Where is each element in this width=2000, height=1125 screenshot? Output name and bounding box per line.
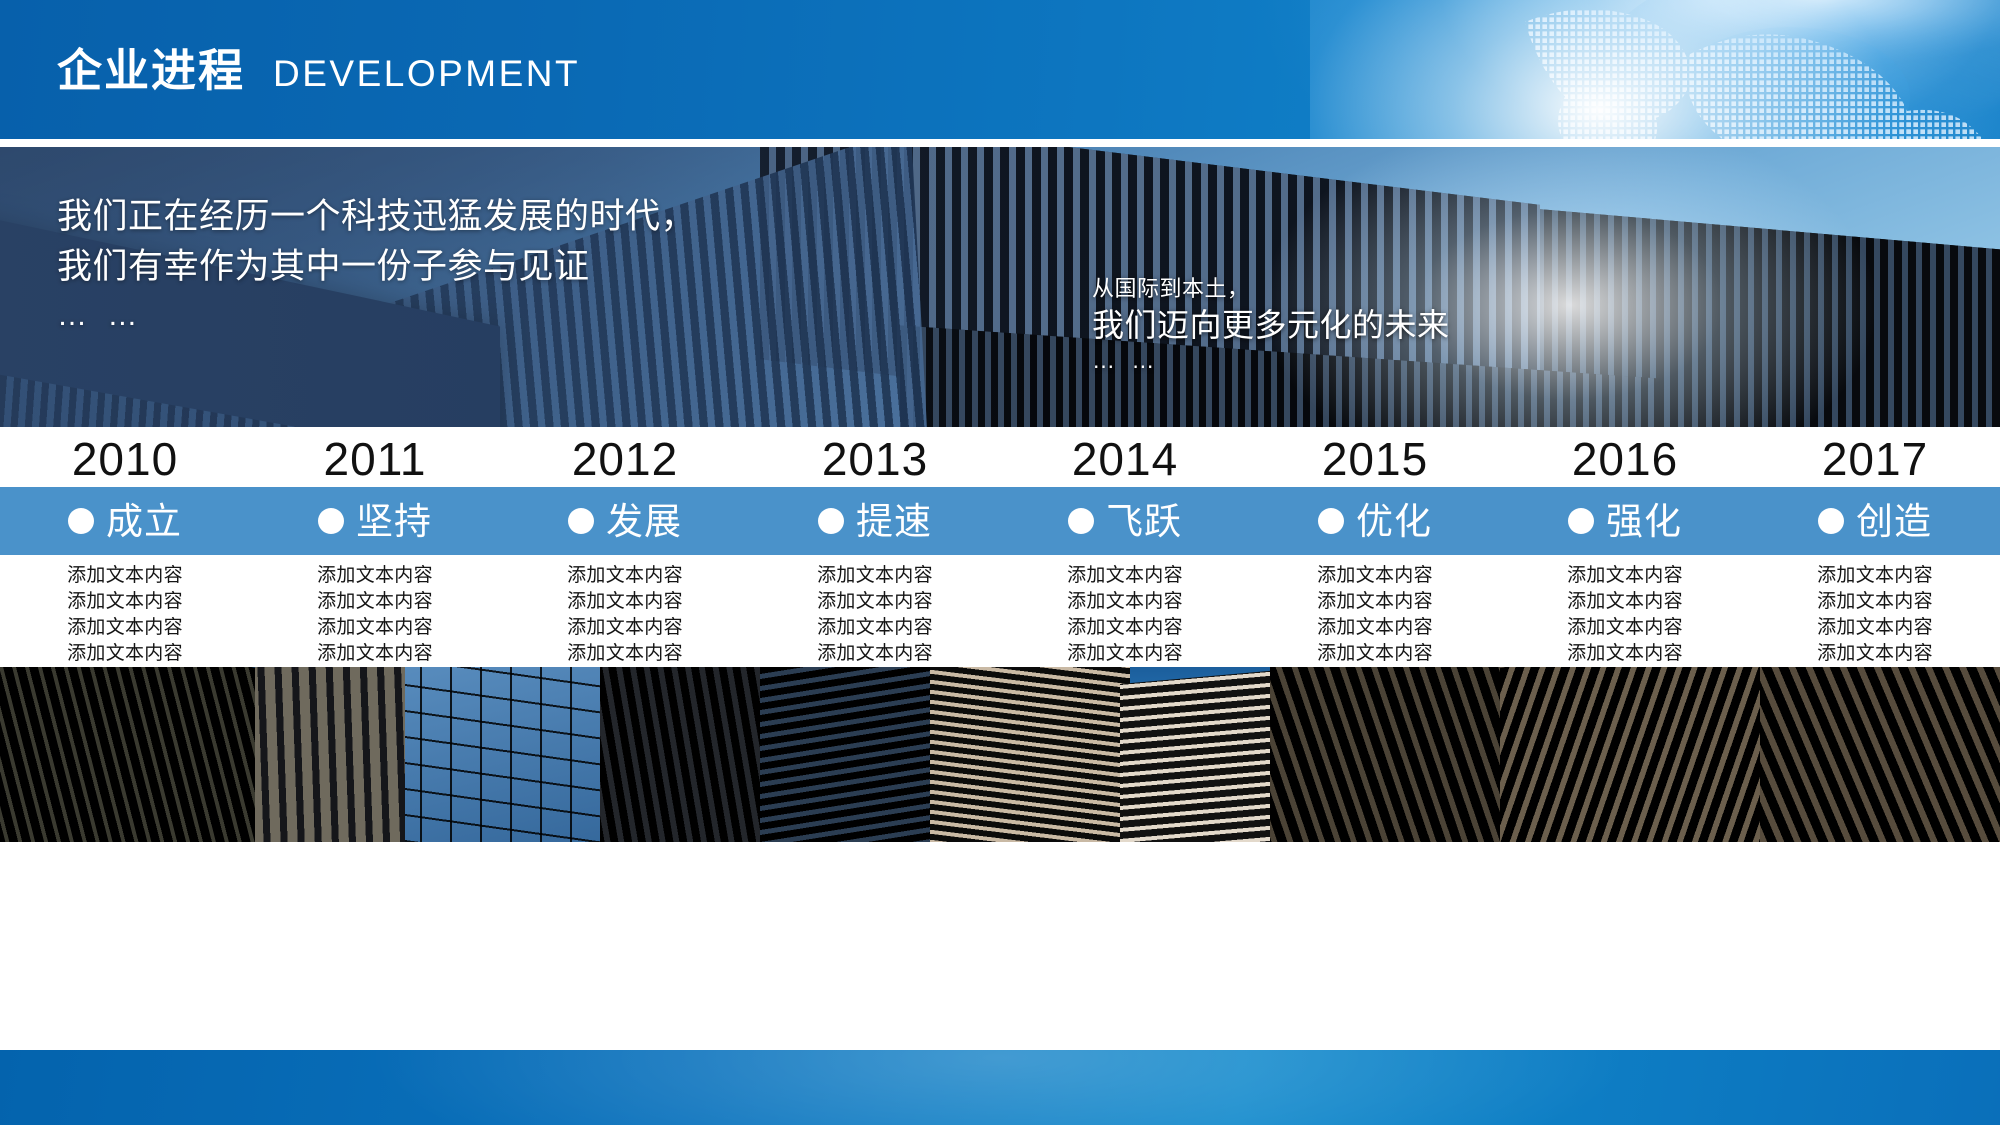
filled-circle-icon: [1568, 508, 1594, 534]
header-separator: [0, 139, 2000, 147]
filled-circle-icon: [1068, 508, 1094, 534]
timeline-body-line: 添加文本内容: [1067, 589, 1183, 615]
timeline-milestone-label: 优化: [1356, 503, 1432, 540]
timeline-body-line: 添加文本内容: [317, 641, 433, 667]
bottom-photo-strip: [0, 667, 2000, 842]
timeline-body-line: 添加文本内容: [567, 615, 683, 641]
timeline-milestone-label: 创造: [1856, 503, 1932, 540]
timeline-body-line: 添加文本内容: [1317, 563, 1433, 589]
hero-left-line-1: 我们正在经历一个科技迅猛发展的时代，: [57, 192, 696, 242]
timeline-body-line: 添加文本内容: [1317, 615, 1433, 641]
strip-building-9: [1500, 667, 1800, 842]
timeline-body-cell: 添加文本内容添加文本内容添加文本内容添加文本内容: [1750, 555, 2000, 665]
filled-circle-icon: [1818, 508, 1844, 534]
timeline-milestone[interactable]: 坚持: [250, 503, 500, 540]
timeline-body-cell: 添加文本内容添加文本内容添加文本内容添加文本内容: [1250, 555, 1500, 665]
hero-left-line-3: … …: [57, 295, 696, 338]
timeline-body-line: 添加文本内容: [1817, 641, 1933, 667]
strip-building-4: [600, 667, 780, 842]
strip-building-1: [0, 667, 290, 842]
timeline-body-cell: 添加文本内容添加文本内容添加文本内容添加文本内容: [750, 555, 1000, 665]
timeline-milestone-label: 飞跃: [1106, 503, 1182, 540]
timeline-milestone[interactable]: 发展: [500, 503, 750, 540]
timeline-body-line: 添加文本内容: [1567, 641, 1683, 667]
timeline-milestone[interactable]: 提速: [750, 503, 1000, 540]
timeline-body-line: 添加文本内容: [317, 615, 433, 641]
timeline-body-line: 添加文本内容: [1317, 641, 1433, 667]
filled-circle-icon: [318, 508, 344, 534]
timeline-body-line: 添加文本内容: [817, 589, 933, 615]
timeline-body-line: 添加文本内容: [1817, 589, 1933, 615]
strip-building-2: [255, 667, 405, 842]
timeline-body-line: 添加文本内容: [67, 641, 183, 667]
timeline-body-line: 添加文本内容: [567, 563, 683, 589]
strip-building-3: [390, 667, 620, 842]
filled-circle-icon: [818, 508, 844, 534]
title-english: DEVELOPMENT: [273, 55, 580, 92]
timeline-body-line: 添加文本内容: [67, 615, 183, 641]
dotted-world-map-icon: [1360, 0, 2000, 139]
slide-title: 企业进程 DEVELOPMENT: [57, 48, 580, 93]
timeline-body-line: 添加文本内容: [67, 589, 183, 615]
timeline-body-line: 添加文本内容: [1817, 615, 1933, 641]
timeline-milestone-label: 提速: [856, 503, 932, 540]
timeline-body-line: 添加文本内容: [317, 563, 433, 589]
hero-left-line-2: 我们有幸作为其中一份子参与见证: [57, 242, 696, 292]
filled-circle-icon: [1318, 508, 1344, 534]
timeline-body-line: 添加文本内容: [817, 641, 933, 667]
timeline-body-line: 添加文本内容: [317, 589, 433, 615]
timeline-body-cell: 添加文本内容添加文本内容添加文本内容添加文本内容: [1500, 555, 1750, 665]
filled-circle-icon: [568, 508, 594, 534]
timeline-body-line: 添加文本内容: [1567, 563, 1683, 589]
timeline-body-cell: 添加文本内容添加文本内容添加文本内容添加文本内容: [250, 555, 500, 665]
timeline-body-line: 添加文本内容: [817, 563, 933, 589]
timeline-year: 2013: [750, 432, 1000, 487]
timeline-milestone[interactable]: 飞跃: [1000, 503, 1250, 540]
timeline-milestone-label: 成立: [106, 503, 182, 540]
timeline-label-bar: 成立坚持发展提速飞跃优化强化创造: [0, 487, 2000, 555]
timeline-year: 2014: [1000, 432, 1250, 487]
strip-building-8: [1270, 667, 1530, 842]
timeline-body-line: 添加文本内容: [1567, 615, 1683, 641]
timeline-milestone[interactable]: 优化: [1250, 503, 1500, 540]
slide-header: 企业进程 DEVELOPMENT: [0, 0, 2000, 139]
hero-right-caption: 从国际到本土， 我们迈向更多元化的未来 … …: [1092, 275, 1450, 375]
timeline-year: 2017: [1750, 432, 2000, 487]
presentation-slide: 企业进程 DEVELOPMENT 我们正在经历一个科技迅猛发展的时代， 我们有幸…: [0, 0, 2000, 1125]
timeline-body-line: 添加文本内容: [567, 589, 683, 615]
timeline-year: 2010: [0, 432, 250, 487]
hero-right-line-3: … …: [1092, 346, 1450, 375]
strip-building-5: [760, 667, 950, 842]
timeline-years-row: 20102011201220132014201520162017: [0, 432, 2000, 487]
timeline-body-row: 添加文本内容添加文本内容添加文本内容添加文本内容添加文本内容添加文本内容添加文本…: [0, 555, 2000, 665]
timeline-year: 2016: [1500, 432, 1750, 487]
filled-circle-icon: [68, 508, 94, 534]
timeline-body-cell: 添加文本内容添加文本内容添加文本内容添加文本内容: [0, 555, 250, 665]
strip-building-6: [930, 667, 1130, 842]
timeline-body-line: 添加文本内容: [67, 563, 183, 589]
timeline-body-cell: 添加文本内容添加文本内容添加文本内容添加文本内容: [500, 555, 750, 665]
timeline-body-line: 添加文本内容: [1567, 589, 1683, 615]
hero-right-line-1: 从国际到本土，: [1092, 275, 1450, 304]
timeline-milestone-label: 强化: [1606, 503, 1682, 540]
timeline-body-line: 添加文本内容: [1067, 615, 1183, 641]
timeline-milestone[interactable]: 强化: [1500, 503, 1750, 540]
timeline-year: 2015: [1250, 432, 1500, 487]
hero-right-line-2: 我们迈向更多元化的未来: [1092, 304, 1450, 346]
timeline-milestone[interactable]: 创造: [1750, 503, 2000, 540]
timeline-body-line: 添加文本内容: [817, 615, 933, 641]
slide-footer: [0, 1050, 2000, 1125]
timeline-milestone[interactable]: 成立: [0, 503, 250, 540]
timeline-body-line: 添加文本内容: [1317, 589, 1433, 615]
hero-left-caption: 我们正在经历一个科技迅猛发展的时代， 我们有幸作为其中一份子参与见证 … …: [57, 192, 696, 338]
timeline-milestone-label: 发展: [606, 503, 682, 540]
timeline-year: 2012: [500, 432, 750, 487]
timeline-body-cell: 添加文本内容添加文本内容添加文本内容添加文本内容: [1000, 555, 1250, 665]
strip-building-7: [1120, 670, 1280, 842]
timeline-milestone-label: 坚持: [356, 503, 432, 540]
timeline-body-line: 添加文本内容: [1067, 641, 1183, 667]
title-chinese: 企业进程: [57, 48, 245, 93]
strip-building-10: [1760, 667, 2000, 842]
timeline-body-line: 添加文本内容: [1817, 563, 1933, 589]
timeline-year: 2011: [250, 432, 500, 487]
timeline-body-line: 添加文本内容: [1067, 563, 1183, 589]
timeline-body-line: 添加文本内容: [567, 641, 683, 667]
hero-photo-banner: 我们正在经历一个科技迅猛发展的时代， 我们有幸作为其中一份子参与见证 … … 从…: [0, 147, 2000, 427]
